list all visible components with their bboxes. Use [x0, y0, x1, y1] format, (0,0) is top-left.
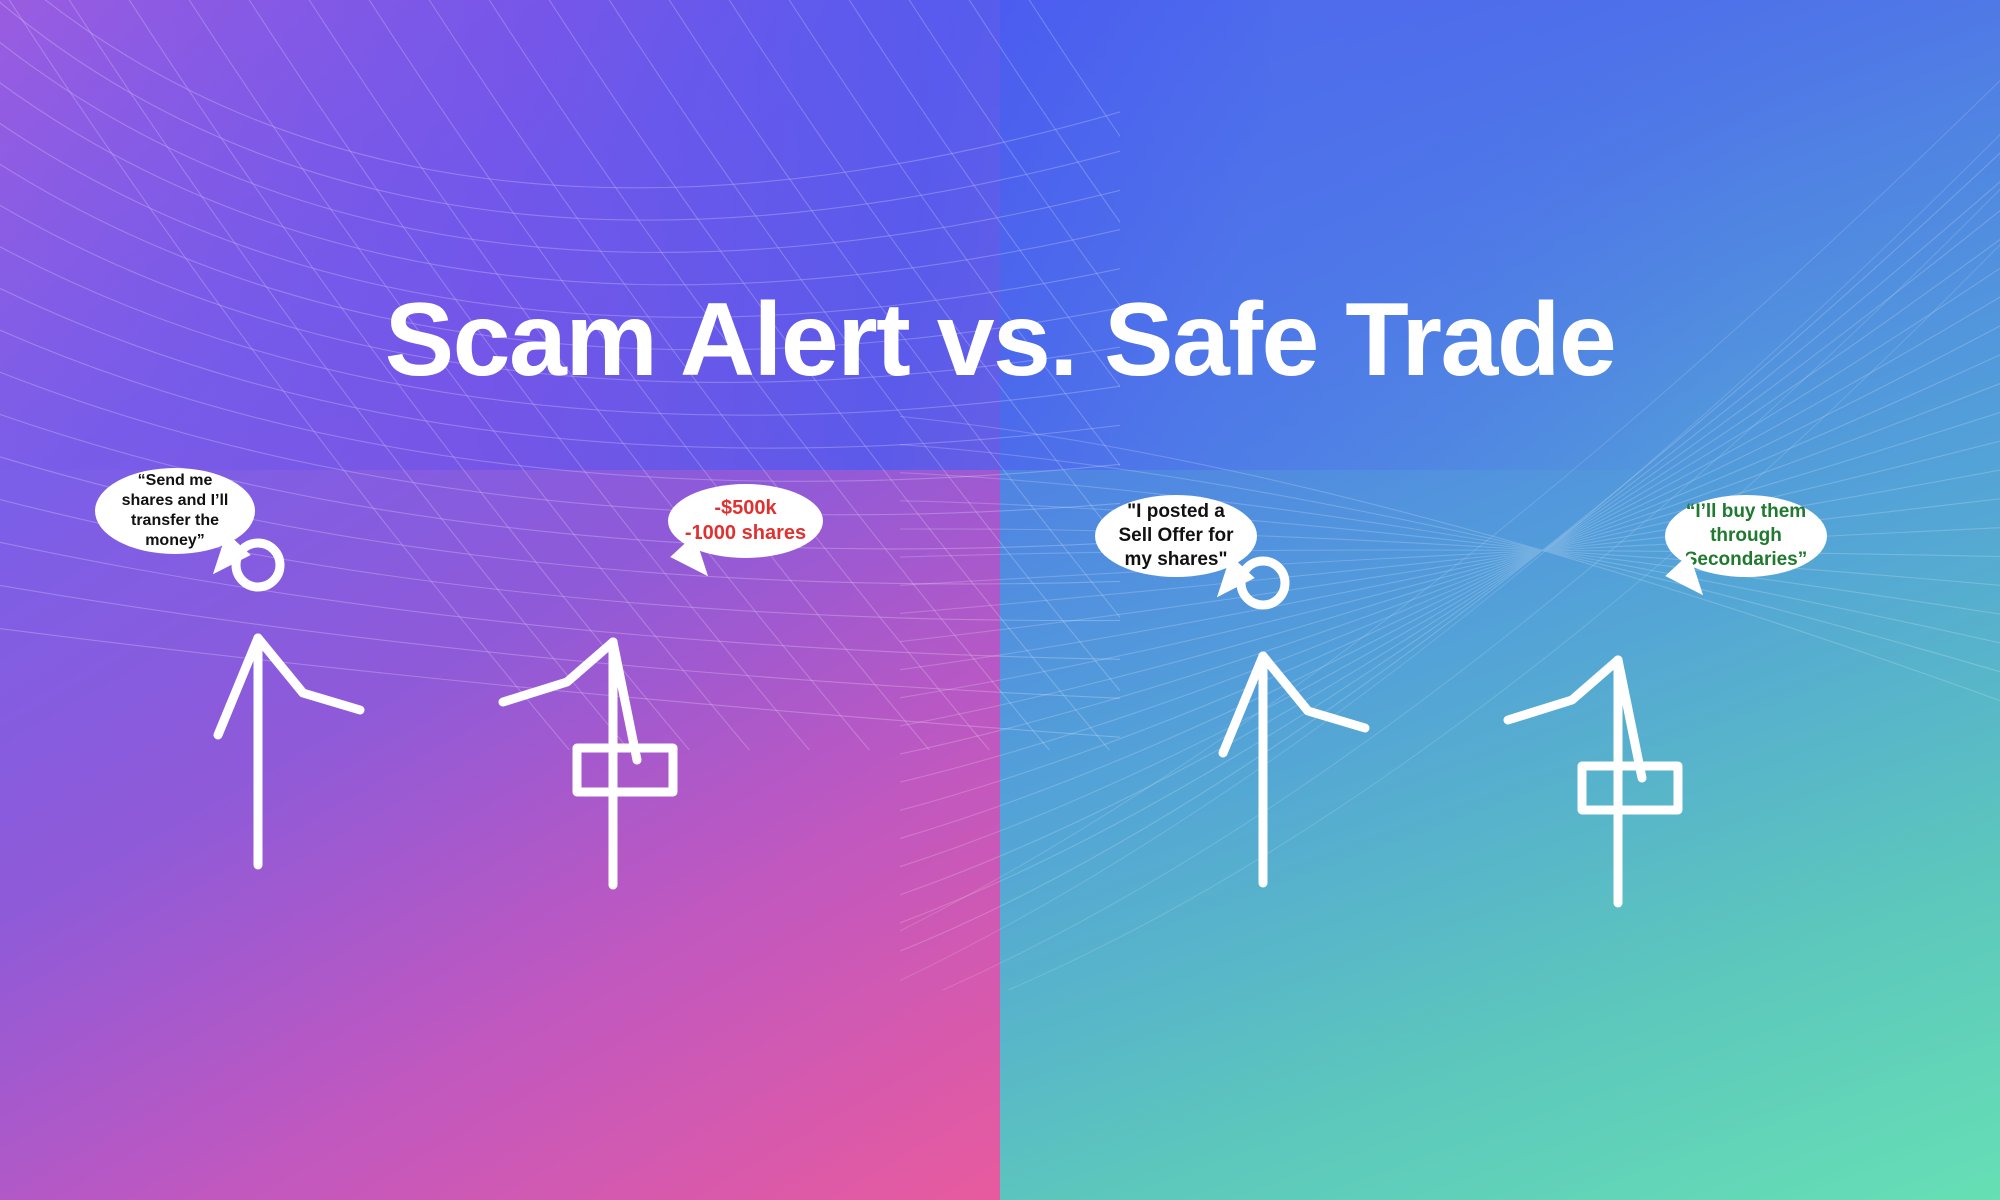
stick-figure-safe-buyer — [1500, 638, 1720, 938]
stick-figure-scam-receiver — [495, 620, 715, 920]
panel-scam-alert-background — [0, 0, 1000, 1200]
speech-bubble-safe-sell-offer: "I posted a Sell Offer for my shares" — [1095, 495, 1257, 577]
stick-figure-safe-seller — [1205, 553, 1405, 933]
speech-bubble-safe-buy-secondaries-text: “I’ll buy them through Secondaries” — [1671, 500, 1822, 571]
figure-body — [218, 638, 360, 865]
stick-figure-scam-sender — [200, 535, 400, 915]
speech-bubble-safe-sell-offer-text: "I posted a Sell Offer for my shares" — [1104, 500, 1247, 571]
speech-bubble-scam-promise-text: “Send me shares and I’ll transfer the mo… — [108, 471, 243, 551]
figure-body — [503, 642, 637, 885]
page-title: Scam Alert vs. Safe Trade — [0, 288, 2000, 392]
figure-body — [1508, 660, 1642, 903]
document-icon — [577, 748, 673, 792]
speech-bubble-scam-loss: -$500k -1000 shares — [668, 484, 823, 558]
figure-body — [1223, 656, 1365, 883]
speech-bubble-scam-promise: “Send me shares and I’ll transfer the mo… — [95, 468, 255, 554]
speech-bubble-safe-buy-secondaries: “I’ll buy them through Secondaries” — [1665, 495, 1827, 577]
panel-safe-trade-background — [1000, 0, 2000, 1200]
document-icon — [1582, 766, 1678, 810]
infographic-canvas: Scam Alert vs. Safe Trade “Send me share… — [0, 0, 2000, 1200]
